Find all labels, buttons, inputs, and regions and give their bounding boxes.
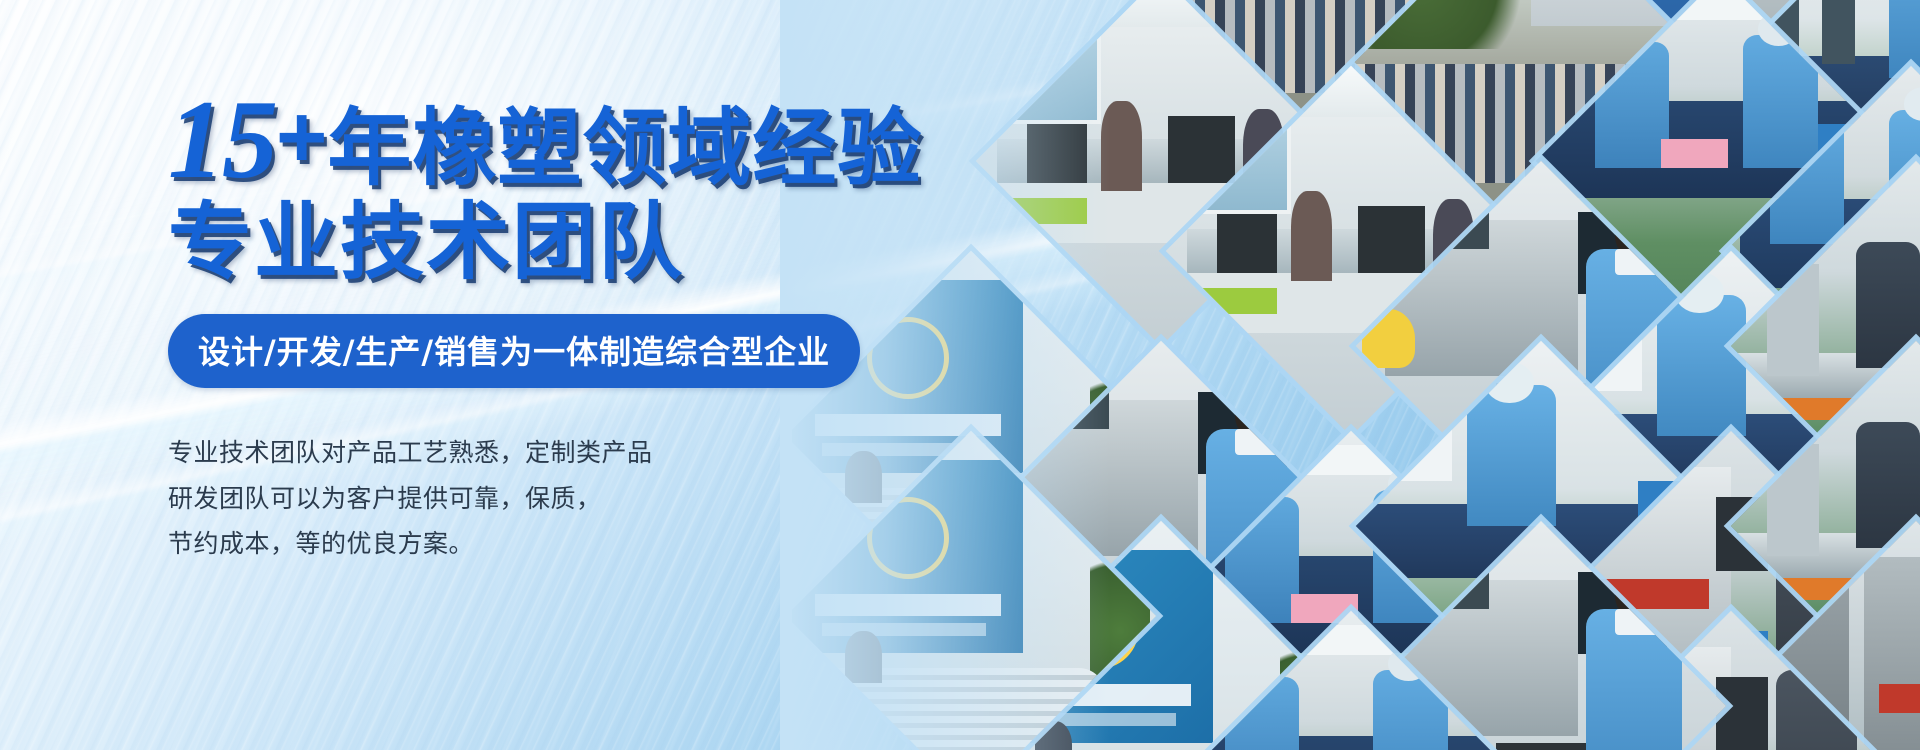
headline-line-1: 15+年橡塑领域经验: [168, 84, 928, 196]
plus-sign: +: [276, 87, 327, 186]
promo-banner: 15+年橡塑领域经验 专业技术团队 设计/开发/生产/销售为一体制造综合型企业 …: [0, 0, 1920, 750]
description-line-1: 专业技术团队对产品工艺熟悉，定制类产品: [168, 430, 928, 476]
years-number: 15: [168, 78, 276, 202]
description-line-3: 节约成本，等的优良方案。: [168, 521, 928, 567]
diamond-photo-collage: [780, 0, 1920, 750]
headline-line-1-suffix: 年橡塑领域经验: [327, 99, 922, 197]
tagline-pill[interactable]: 设计/开发/生产/销售为一体制造综合型企业: [168, 314, 860, 388]
headline: 15+年橡塑领域经验 专业技术团队: [168, 84, 928, 284]
headline-line-2-text: 专业技术团队: [168, 193, 684, 291]
headline-line-2: 专业技术团队: [168, 200, 928, 284]
collage-grid: [780, 0, 1920, 750]
description-paragraph: 专业技术团队对产品工艺熟悉，定制类产品 研发团队可以为客户提供可靠，保质， 节约…: [168, 430, 928, 567]
description-line-2: 研发团队可以为客户提供可靠，保质，: [168, 476, 928, 522]
banner-copy: 15+年橡塑领域经验 专业技术团队 设计/开发/生产/销售为一体制造综合型企业 …: [168, 84, 928, 567]
